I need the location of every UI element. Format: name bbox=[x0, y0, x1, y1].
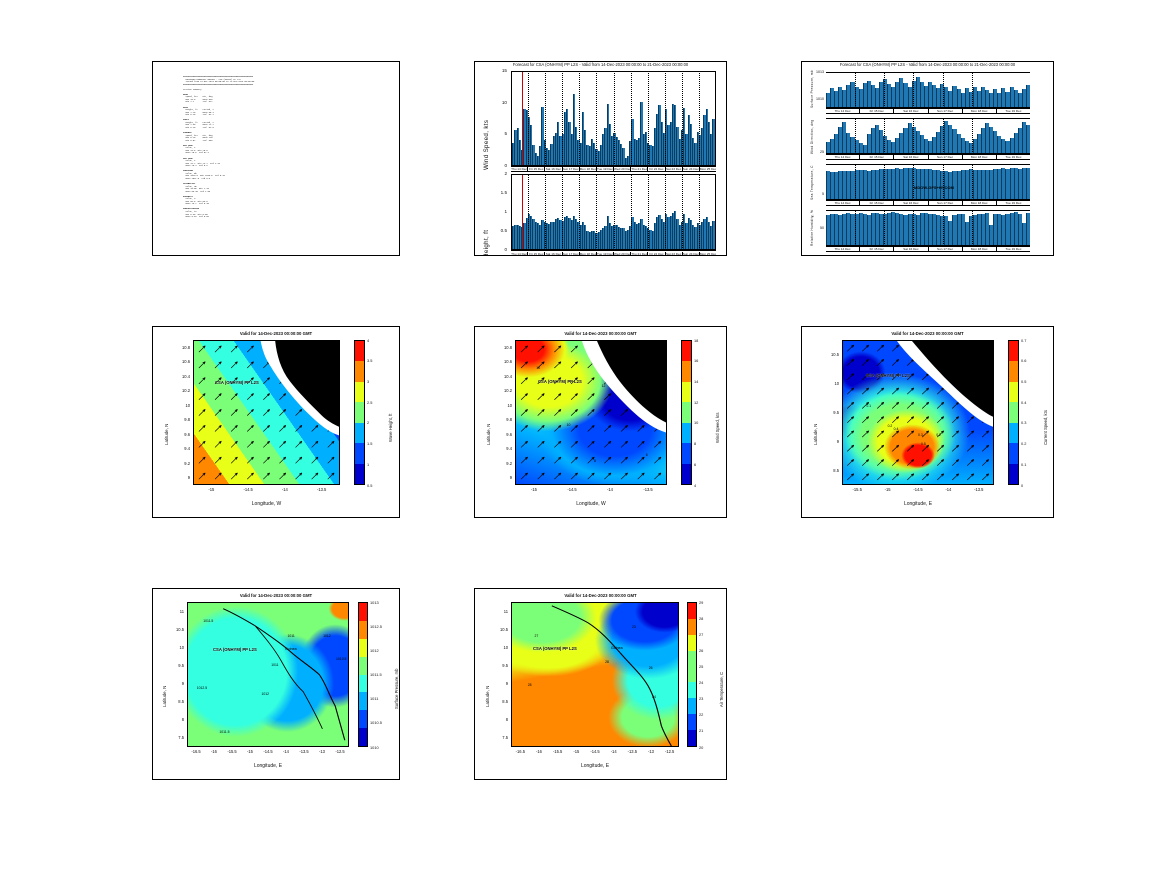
day-label: Mon 18 Dec bbox=[963, 155, 997, 159]
colorbar-tick-label: 21 bbox=[699, 728, 703, 733]
day-label-strip-wind: Thu 14 DecFri 15 DecSat 16 DecSun 17 Dec… bbox=[511, 166, 716, 172]
gridline bbox=[579, 174, 580, 250]
gridline bbox=[972, 118, 973, 154]
air-temperature-colorbar bbox=[687, 602, 697, 747]
colorbar-band bbox=[1009, 423, 1018, 443]
colorbar-tick-label: 26 bbox=[699, 648, 703, 653]
map-title: Valid for 14-Dec-2023 00:00:00 GMT bbox=[475, 331, 726, 336]
colorbar-tick-label: 1012.5 bbox=[370, 624, 382, 629]
chart-title: Forecast for CSA (ONHYM) PP L2S - Valid … bbox=[802, 62, 1053, 67]
map-x-tick-label: -13.5 bbox=[968, 487, 990, 492]
region-label: Guinea bbox=[285, 647, 297, 651]
map-y-tick-label: 9 bbox=[489, 681, 508, 686]
gridline bbox=[665, 71, 666, 166]
colorbar-ticks: 10131012.510121011.510111010.51010 bbox=[370, 602, 394, 747]
map-y-tick-label: 10.5 bbox=[489, 627, 508, 632]
map-x-tick-label: -15 bbox=[200, 487, 222, 492]
contour-label: 16 bbox=[536, 366, 540, 370]
colorbar-label: Air Temperature, C bbox=[719, 672, 724, 707]
map-y-tick-label: 10.4 bbox=[493, 374, 512, 379]
colorbar-band bbox=[355, 402, 364, 422]
colorbar-tick-label: 0.7 bbox=[1021, 338, 1026, 343]
day-label: Tue 19 Dec bbox=[997, 247, 1030, 251]
colorbar-tick-label: 1013 bbox=[370, 600, 379, 605]
map-y-tick-label: 8 bbox=[165, 717, 184, 722]
day-label: Sat 16 Dec bbox=[545, 167, 562, 171]
day-label: Fri 15 Dec bbox=[860, 155, 894, 159]
bar bbox=[712, 221, 714, 249]
current-speed-map-panel: Valid for 14-Dec-2023 00:00:00 GMT Latit… bbox=[801, 326, 1054, 518]
contour-label: 1011 bbox=[271, 663, 278, 667]
colorbar-band bbox=[355, 464, 364, 484]
colorbar-tick-label: 29 bbox=[699, 600, 703, 605]
day-label: Sun 17 Dec bbox=[929, 109, 963, 113]
day-label: Sat 16 Dec bbox=[894, 201, 928, 205]
map-y-tick-label: 7.5 bbox=[489, 735, 508, 740]
contour-label: 6 bbox=[646, 453, 648, 457]
day-label: Fri 15 Dec bbox=[860, 247, 894, 251]
day-label: Tue 19 Dec bbox=[997, 109, 1030, 113]
gridline bbox=[545, 71, 546, 166]
gridline bbox=[562, 174, 563, 250]
colorbar-band bbox=[688, 714, 696, 730]
map-y-tick-label: 8 bbox=[489, 717, 508, 722]
map-x-tick-label: -14 bbox=[599, 487, 621, 492]
gridline bbox=[972, 72, 973, 108]
colorbar-band bbox=[688, 698, 696, 714]
map-x-tick-label: -14 bbox=[274, 487, 296, 492]
map-x-tick-label: -14.5 bbox=[561, 487, 583, 492]
colorbar-band bbox=[359, 621, 367, 639]
contour-label: 10 bbox=[567, 423, 571, 427]
colorbar-tick-label: 27 bbox=[699, 632, 703, 637]
y-tick-label: 0 bbox=[481, 163, 507, 168]
map-y-tick-label: 9 bbox=[493, 475, 512, 480]
gridline bbox=[913, 118, 914, 154]
wind-speed-map-panel: Valid for 14-Dec-2023 00:00:00 GMT Latit… bbox=[474, 326, 727, 518]
map-x-tick-label: -14 bbox=[937, 487, 959, 492]
colorbar-tick-label: 3.5 bbox=[367, 358, 372, 363]
day-label: Sun 24 Dec bbox=[683, 252, 700, 256]
map-y-tick-label: 9.5 bbox=[489, 663, 508, 668]
air-temperature-map-canvas bbox=[511, 602, 679, 747]
map-y-tick-label: 9.2 bbox=[171, 461, 190, 466]
map-y-tick-label: 10 bbox=[489, 645, 508, 650]
now-marker-line-wave bbox=[522, 175, 523, 249]
colorbar-band bbox=[359, 675, 367, 693]
day-label: Sat 16 Dec bbox=[894, 109, 928, 113]
surface-pressure-map-panel: Valid for 14-Dec-2023 00:00:00 GMT Latit… bbox=[152, 588, 400, 780]
colorbar-band bbox=[682, 382, 691, 402]
site-label: CSA (ONHYM) PP L2S bbox=[215, 380, 259, 385]
day-label: Thu 14 Dec bbox=[826, 201, 860, 205]
gridline bbox=[913, 210, 914, 246]
map-y-axis-label: Latitude, N bbox=[486, 424, 491, 445]
y-tick-label: 1.5 bbox=[481, 190, 507, 195]
surface-pressure-colorbar bbox=[358, 602, 368, 747]
colorbar-tick-label: 28 bbox=[699, 616, 703, 621]
day-label: Thu 21 Dec bbox=[631, 167, 648, 171]
colorbar-tick-label: 14 bbox=[694, 379, 698, 384]
gridline bbox=[972, 164, 973, 200]
colorbar-tick-label: 12 bbox=[694, 400, 698, 405]
day-label: Sat 16 Dec bbox=[894, 247, 928, 251]
day-label: Sun 17 Dec bbox=[563, 167, 580, 171]
y-tick-label: 1 bbox=[481, 209, 507, 214]
map-y-tick-label: 9.6 bbox=[171, 432, 190, 437]
contour-label: 12 bbox=[602, 384, 606, 388]
colorbar-tick-label: 2 bbox=[367, 420, 369, 425]
gridline bbox=[545, 174, 546, 250]
colorbar-tick-label: 0.3 bbox=[1021, 420, 1026, 425]
colorbar-tick-label: 0.6 bbox=[1021, 358, 1026, 363]
colorbar-tick-label: 0.2 bbox=[1021, 441, 1026, 446]
day-label: Thu 14 Dec bbox=[511, 167, 528, 171]
bar bbox=[1026, 85, 1030, 107]
bar bbox=[712, 119, 714, 165]
colorbar-band bbox=[1009, 341, 1018, 361]
map-y-axis-label: Latitude, N bbox=[164, 424, 169, 445]
day-label: Fri 22 Dec bbox=[648, 252, 665, 256]
gridline bbox=[562, 71, 563, 166]
map-y-tick-label: 10.8 bbox=[493, 345, 512, 350]
day-label: Fri 15 Dec bbox=[528, 167, 545, 171]
colorbar-band bbox=[1009, 443, 1018, 463]
colorbar-band bbox=[1009, 464, 1018, 484]
colorbar-band bbox=[688, 682, 696, 698]
gridline bbox=[855, 118, 856, 154]
gridline bbox=[884, 72, 885, 108]
text-report-panel: ========================================… bbox=[152, 61, 400, 256]
colorbar-band bbox=[355, 382, 364, 402]
colorbar-label: Surface Pressure, mb bbox=[394, 669, 399, 710]
gridline bbox=[631, 174, 632, 250]
colorbar-label: Wave Height, ft bbox=[388, 414, 393, 442]
map-title: Valid for 14-Dec-2023 00:00:00 GMT bbox=[153, 593, 399, 598]
wind-speed-map-canvas bbox=[515, 340, 667, 485]
map-y-tick-label: 9.5 bbox=[165, 663, 184, 668]
map-y-tick-label: 7.5 bbox=[165, 735, 184, 740]
day-label: Fri 22 Dec bbox=[648, 167, 665, 171]
colorbar-tick-label: 0.5 bbox=[1021, 379, 1026, 384]
gridline bbox=[648, 71, 649, 166]
air-temperature-map-panel: Valid for 14-Dec-2023 00:00:00 GMT Latit… bbox=[474, 588, 727, 780]
contour-label: 1012 bbox=[262, 692, 270, 696]
land-mask bbox=[512, 603, 678, 746]
map-y-tick-label: 8.5 bbox=[820, 468, 839, 473]
colorbar-tick-label: 20 bbox=[699, 745, 703, 750]
contour-label: 1012 bbox=[323, 634, 331, 638]
model-overlay-label: MDOW-GFS+HYCOM bbox=[914, 185, 954, 190]
map-x-tick-label: -14.5 bbox=[237, 487, 259, 492]
map-y-tick-label: 10.6 bbox=[171, 359, 190, 364]
contour-label: 26 bbox=[649, 666, 653, 670]
report-text-body: ========================================… bbox=[183, 76, 393, 251]
gridline bbox=[943, 164, 944, 200]
colorbar-band bbox=[682, 341, 691, 361]
colorbar-band bbox=[359, 692, 367, 710]
y-tick-label: 5 bbox=[481, 131, 507, 136]
site-label: CSA (ONHYM) PP L2S bbox=[213, 647, 257, 652]
stacked-timeseries-panel: Forecast for CSA (ONHYM) PP L2S - Valid … bbox=[801, 61, 1054, 256]
contour-label: 1011.5 bbox=[219, 730, 229, 734]
now-marker-line bbox=[522, 72, 523, 165]
map-y-tick-label: 11 bbox=[489, 609, 508, 614]
gridline bbox=[884, 210, 885, 246]
map-x-axis-label: Longitude, E bbox=[187, 763, 349, 769]
gridline bbox=[682, 71, 683, 166]
map-y-tick-label: 11 bbox=[165, 609, 184, 614]
day-label: Thu 21 Dec bbox=[631, 252, 648, 256]
colorbar-band bbox=[355, 423, 364, 443]
report-line: mean 0.04 std 0.08 bbox=[183, 216, 393, 219]
contour-label: 28 bbox=[528, 683, 532, 687]
gridline bbox=[665, 174, 666, 250]
day-label: Mon 18 Dec bbox=[580, 167, 597, 171]
gridline bbox=[596, 71, 597, 166]
map-y-tick-label: 10.4 bbox=[171, 374, 190, 379]
colorbar-band bbox=[688, 635, 696, 651]
gridline bbox=[528, 71, 529, 166]
day-label: Tue 19 Dec bbox=[597, 252, 614, 256]
region-label: Guinea bbox=[611, 646, 623, 650]
colorbar-ticks: 29282726252423222120 bbox=[699, 602, 719, 747]
stack-plot-area-humidity_stack bbox=[826, 210, 1030, 246]
map-y-tick-label: 10.2 bbox=[493, 388, 512, 393]
colorbar-tick-label: 23 bbox=[699, 696, 703, 701]
day-label: Mon 18 Dec bbox=[963, 247, 997, 251]
contour-label: 0.4 bbox=[894, 427, 899, 431]
map-x-axis-label: Longitude, W bbox=[193, 501, 340, 507]
colorbar-tick-label: 18 bbox=[694, 338, 698, 343]
map-y-tick-label: 10.5 bbox=[165, 627, 184, 632]
y-tick-label: 25 bbox=[810, 150, 824, 154]
stack-plot-area-sea_temperature_stack bbox=[826, 164, 1030, 200]
colorbar-tick-label: 24 bbox=[699, 680, 703, 685]
land-mask bbox=[516, 341, 666, 484]
y-tick-label: 15 bbox=[481, 68, 507, 73]
contour-label: 24 bbox=[652, 695, 656, 699]
gridline bbox=[648, 174, 649, 250]
colorbar-band bbox=[688, 603, 696, 619]
map-x-axis-label: Longitude, W bbox=[515, 501, 667, 507]
day-label-strip: Thu 14 DecFri 15 DecSat 16 DecSun 17 Dec… bbox=[826, 154, 1030, 160]
contour-label: 8 bbox=[594, 459, 596, 463]
map-y-tick-label: 8.5 bbox=[489, 699, 508, 704]
day-label: Tue 19 Dec bbox=[997, 155, 1030, 159]
gridline bbox=[596, 174, 597, 250]
map-y-tick-label: 10 bbox=[171, 403, 190, 408]
wave-height-y-axis-label: Wave Height, ft bbox=[483, 230, 490, 256]
contour-label: 0.2 bbox=[888, 424, 893, 428]
map-y-tick-label: 10 bbox=[165, 645, 184, 650]
map-y-tick-label: 9.8 bbox=[171, 417, 190, 422]
land-mask bbox=[188, 603, 348, 746]
map-y-tick-label: 9.8 bbox=[493, 417, 512, 422]
day-label: Mon 18 Dec bbox=[963, 109, 997, 113]
map-title: Valid for 14-Dec-2023 00:00:00 GMT bbox=[802, 331, 1053, 336]
day-label-strip: Thu 14 DecFri 15 DecSat 16 DecSun 17 Dec… bbox=[826, 200, 1030, 206]
day-label: Thu 14 Dec bbox=[826, 247, 860, 251]
colorbar-tick-label: 0 bbox=[1021, 483, 1023, 488]
gridline bbox=[884, 164, 885, 200]
contour-label: 0.3 bbox=[918, 433, 923, 437]
map-x-tick-label: -14.5 bbox=[907, 487, 929, 492]
map-x-tick-label: -15.5 bbox=[846, 487, 868, 492]
day-label: Sat 16 Dec bbox=[545, 252, 562, 256]
colorbar-tick-label: 1.5 bbox=[367, 441, 372, 446]
colorbar-band bbox=[682, 464, 691, 484]
map-y-tick-label: 9.4 bbox=[493, 446, 512, 451]
day-label: Mon 25 Dec bbox=[700, 252, 716, 256]
gridline bbox=[579, 71, 580, 166]
map-y-tick-label: 9.2 bbox=[493, 461, 512, 466]
colorbar-tick-label: 2.5 bbox=[367, 400, 372, 405]
colorbar-tick-label: 8 bbox=[694, 441, 696, 446]
map-x-tick-label: -12.5 bbox=[659, 749, 681, 754]
day-label: Fri 15 Dec bbox=[860, 201, 894, 205]
gridline bbox=[943, 210, 944, 246]
colorbar-band bbox=[359, 657, 367, 675]
map-y-tick-label: 10.8 bbox=[171, 345, 190, 350]
colorbar-tick-label: 0.1 bbox=[1021, 462, 1026, 467]
contour-label: 28 bbox=[605, 660, 609, 664]
stack-plot-area-pressure_stack bbox=[826, 72, 1030, 108]
site-label: CSA (ONHYM) PP L2S bbox=[866, 373, 910, 378]
colorbar-band bbox=[359, 603, 367, 621]
day-label: Sun 17 Dec bbox=[563, 252, 580, 256]
colorbar-label: Wind Speed, kts bbox=[715, 413, 720, 444]
gridline bbox=[855, 164, 856, 200]
day-label-strip-wave: Thu 14 DecFri 15 DecSat 16 DecSun 17 Dec… bbox=[511, 250, 716, 256]
gridline bbox=[884, 118, 885, 154]
colorbar-tick-label: 0.5 bbox=[367, 483, 372, 488]
gridline bbox=[943, 118, 944, 154]
wave-height-colorbar bbox=[354, 340, 365, 485]
map-x-axis-label: Longitude, E bbox=[842, 501, 994, 507]
colorbar-tick-label: 3 bbox=[367, 379, 369, 384]
gridline bbox=[631, 71, 632, 166]
colorbar-tick-label: 22 bbox=[699, 712, 703, 717]
gridline bbox=[614, 71, 615, 166]
colorbar-ticks: 43.532.521.510.5 bbox=[367, 340, 387, 485]
colorbar-band bbox=[1009, 361, 1018, 381]
day-label: Mon 18 Dec bbox=[963, 201, 997, 205]
land-mask bbox=[194, 341, 339, 484]
day-label: Mon 18 Dec bbox=[580, 252, 597, 256]
contour-label: 1011.5 bbox=[203, 619, 213, 623]
gridline bbox=[614, 174, 615, 250]
colorbar-band bbox=[1009, 402, 1018, 422]
day-label: Wed 20 Dec bbox=[614, 252, 631, 256]
site-label: CSA (ONHYM) PP L2S bbox=[538, 379, 582, 384]
colorbar-band bbox=[355, 361, 364, 381]
day-label-strip: Thu 14 DecFri 15 DecSat 16 DecSun 17 Dec… bbox=[826, 246, 1030, 252]
map-title: Valid for 14-Dec-2023 00:00:00 GMT bbox=[153, 331, 399, 336]
colorbar-band bbox=[1009, 382, 1018, 402]
wave-height-map-canvas bbox=[193, 340, 340, 485]
contour-label: 1012.5 bbox=[197, 686, 207, 690]
current-speed-colorbar bbox=[1008, 340, 1019, 485]
day-label: Sat 16 Dec bbox=[894, 155, 928, 159]
day-label: Sun 17 Dec bbox=[929, 247, 963, 251]
map-y-tick-label: 9 bbox=[165, 681, 184, 686]
colorbar-band bbox=[355, 341, 364, 361]
wind-wave-timeseries-panel: Forecast for CSA (ONHYM) PP L2S - Valid … bbox=[474, 61, 727, 256]
map-y-tick-label: 9.6 bbox=[493, 432, 512, 437]
map-y-axis-label: Latitude, N bbox=[813, 424, 818, 445]
y-tick-label: 0.5 bbox=[481, 228, 507, 233]
map-x-tick-label: -13.5 bbox=[637, 487, 659, 492]
colorbar-tick-label: 1012 bbox=[370, 648, 379, 653]
contour-label: 27 bbox=[535, 634, 539, 638]
colorbar-band bbox=[359, 639, 367, 657]
y-tick-label: 5 bbox=[810, 192, 824, 196]
colorbar-band bbox=[355, 443, 364, 463]
y-tick-label: 2 bbox=[481, 171, 507, 176]
contour-label: 23 bbox=[632, 625, 636, 629]
day-label: Thu 14 Dec bbox=[826, 155, 860, 159]
current-speed-map-canvas bbox=[842, 340, 994, 485]
colorbar-tick-label: 6 bbox=[694, 462, 696, 467]
report-page: ========================================… bbox=[0, 0, 1167, 875]
colorbar-tick-label: 4 bbox=[694, 483, 696, 488]
contour-label: 0.2 bbox=[936, 433, 941, 437]
colorbar-band bbox=[682, 423, 691, 443]
day-label: Fri 15 Dec bbox=[860, 109, 894, 113]
colorbar-ticks: 0.70.60.50.40.30.20.10 bbox=[1021, 340, 1041, 485]
stack-y-axis-label: Surface Pressure, mb bbox=[810, 70, 814, 108]
map-y-tick-label: 9 bbox=[820, 439, 839, 444]
colorbar-band bbox=[682, 361, 691, 381]
colorbar-tick-label: 1010.5 bbox=[370, 720, 382, 725]
colorbar-band bbox=[688, 667, 696, 683]
y-tick-label: 50 bbox=[810, 226, 824, 230]
colorbar-tick-label: 4 bbox=[367, 338, 369, 343]
day-label: Sun 24 Dec bbox=[683, 167, 700, 171]
contour-label: 1011 bbox=[287, 634, 294, 638]
map-y-tick-label: 10 bbox=[493, 403, 512, 408]
gridline bbox=[682, 174, 683, 250]
surface-pressure-map-canvas bbox=[187, 602, 349, 747]
wave-height-map-panel: Valid for 14-Dec-2023 00:00:00 GMT Latit… bbox=[152, 326, 400, 518]
map-y-tick-label: 10 bbox=[820, 381, 839, 386]
map-x-axis-label: Longitude, E bbox=[511, 763, 679, 769]
land-mask bbox=[843, 341, 993, 484]
colorbar-tick-label: 1011.5 bbox=[370, 672, 382, 677]
gridline bbox=[972, 210, 973, 246]
colorbar-band bbox=[359, 710, 367, 728]
map-y-tick-label: 8.5 bbox=[165, 699, 184, 704]
colorbar-tick-label: 10 bbox=[694, 420, 698, 425]
day-label: Thu 14 Dec bbox=[511, 252, 528, 256]
day-label: Sun 17 Dec bbox=[929, 155, 963, 159]
colorbar-band bbox=[688, 619, 696, 635]
map-y-tick-label: 10.6 bbox=[493, 359, 512, 364]
day-label: Tue 19 Dec bbox=[597, 167, 614, 171]
map-y-tick-label: 9 bbox=[171, 475, 190, 480]
day-label-strip: Thu 14 DecFri 15 DecSat 16 DecSun 17 Dec… bbox=[826, 108, 1030, 114]
map-y-tick-label: 10.2 bbox=[171, 388, 190, 393]
contour-label: 1010.5 bbox=[336, 657, 346, 661]
chart-title: Forecast for CSA (ONHYM) PP L2S - Valid … bbox=[475, 62, 726, 67]
map-y-tick-label: 10.5 bbox=[820, 352, 839, 357]
site-label: CSA (ONHYM) PP L2S bbox=[533, 646, 577, 651]
map-x-tick-label: -15 bbox=[523, 487, 545, 492]
gridline bbox=[855, 210, 856, 246]
colorbar-band bbox=[682, 443, 691, 463]
contour-label: 0.5 bbox=[921, 442, 926, 446]
